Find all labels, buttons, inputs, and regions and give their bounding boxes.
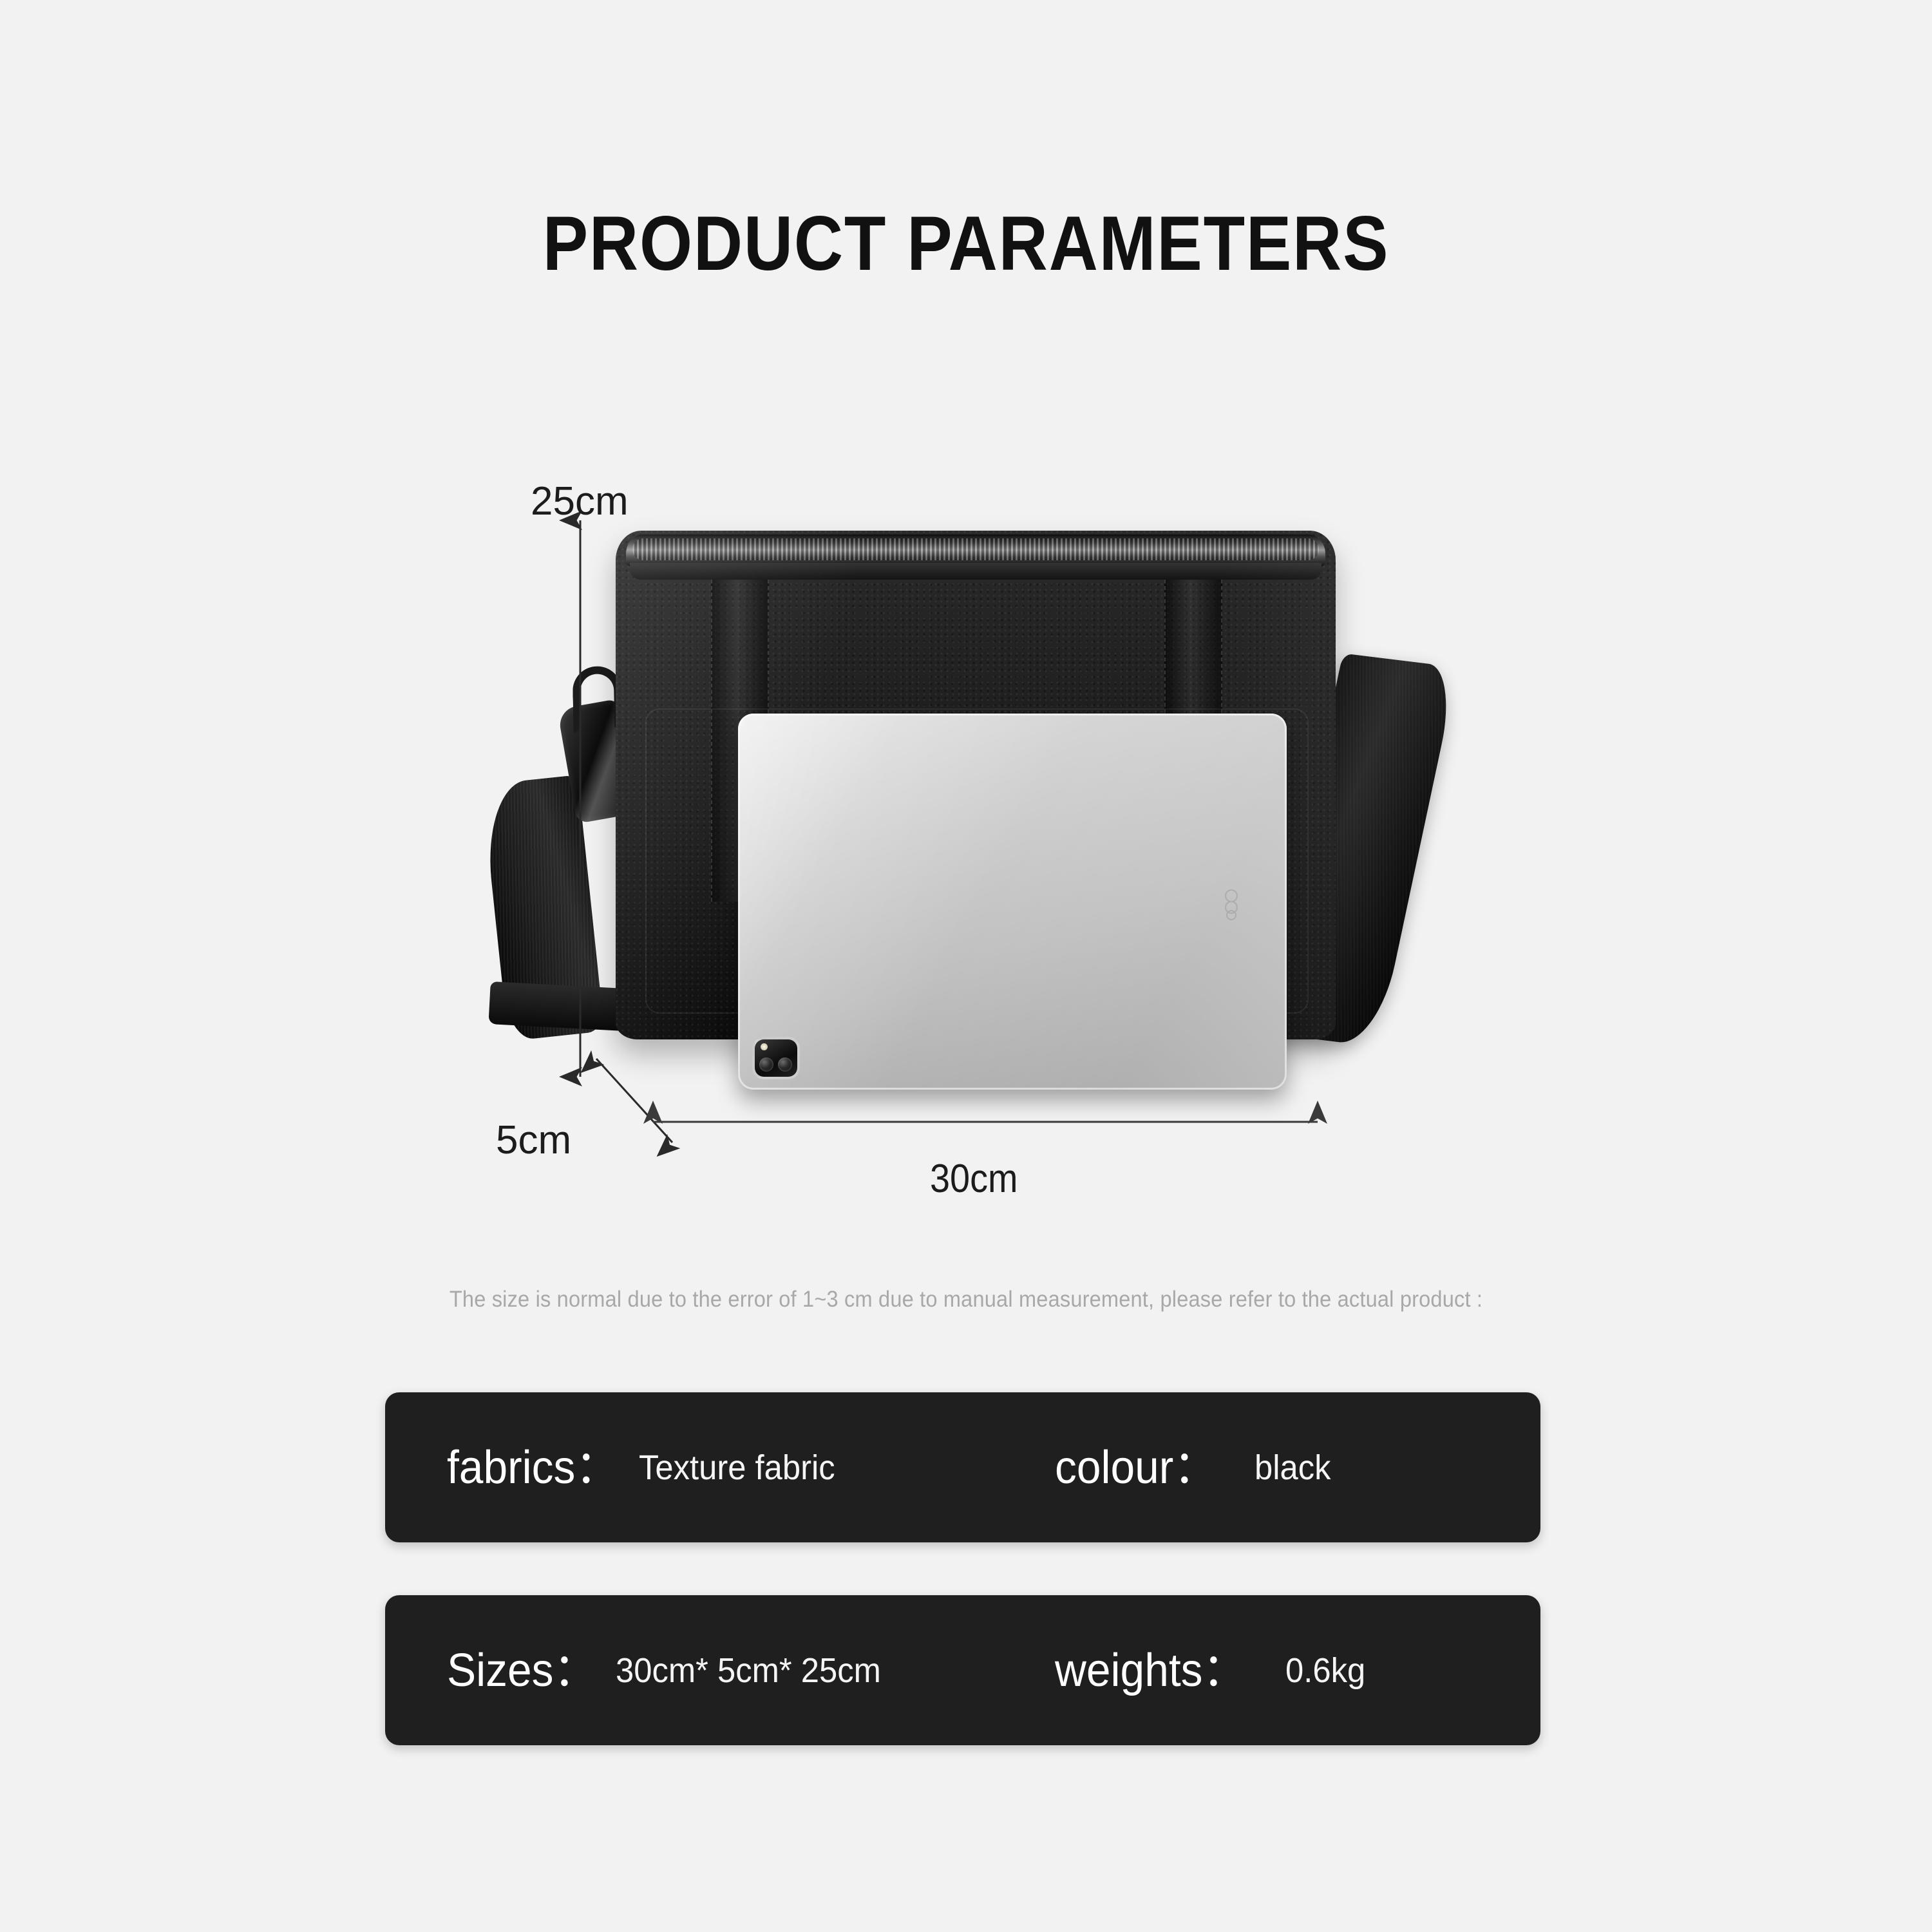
height-dimension-label: 25cm bbox=[531, 482, 629, 522]
spec-colour-label: colour： bbox=[1055, 1444, 1217, 1491]
spec-fabrics: fabrics： Texture fabric bbox=[447, 1392, 848, 1542]
spec-bar-sizes-weights: Sizes： 30cm* 5cm* 25cm weights： 0.6kg bbox=[385, 1595, 1540, 1745]
width-dimension-label: 30cm bbox=[930, 1159, 1018, 1199]
spec-sizes-value: 30cm* 5cm* 25cm bbox=[616, 1653, 881, 1688]
tablet-device bbox=[738, 714, 1287, 1090]
page-title: PRODUCT PARAMETERS bbox=[116, 205, 1816, 282]
spec-fabrics-label: fabrics： bbox=[447, 1444, 619, 1491]
spec-weights: weights： 0.6kg bbox=[1055, 1595, 1370, 1745]
spec-weights-label: weights： bbox=[1055, 1647, 1246, 1694]
spec-colour-value: black bbox=[1255, 1450, 1331, 1485]
spec-colour: colour： black bbox=[1055, 1392, 1336, 1542]
spec-fabrics-value: Texture fabric bbox=[639, 1450, 835, 1485]
spec-weights-value: 0.6kg bbox=[1285, 1653, 1365, 1688]
tablet-edge-highlight bbox=[738, 714, 1287, 1090]
measurement-disclaimer: The size is normal due to the error of 1… bbox=[68, 1287, 1864, 1312]
spec-sizes-label: Sizes： bbox=[447, 1647, 597, 1694]
height-dimension-arrow bbox=[554, 515, 612, 1082]
spec-sizes: Sizes： 30cm* 5cm* 25cm bbox=[447, 1595, 898, 1745]
depth-dimension-label: 5cm bbox=[496, 1121, 571, 1160]
width-dimension-arrow bbox=[644, 1109, 1327, 1135]
spec-bar-fabrics-colour: fabrics： Texture fabric colour： black bbox=[385, 1392, 1540, 1542]
